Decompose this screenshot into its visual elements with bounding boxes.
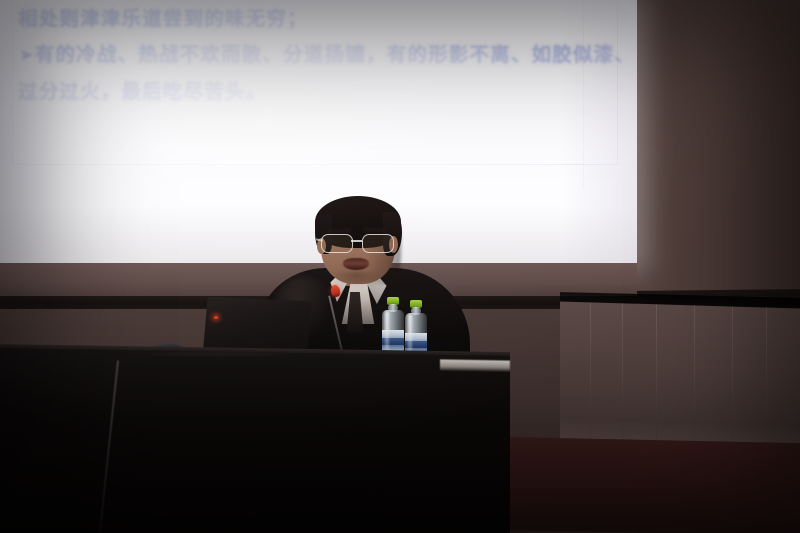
glasses-icon [318,234,400,252]
stage-floor [505,437,800,533]
desk-paper-right [440,359,510,371]
slide-line-3: 过分过火，最后吃尽苦头。 [18,75,618,111]
slide-line-1: 相处则津津乐道尝到的味无穷； [18,2,618,38]
speaker-mouth [343,258,369,270]
slide-line-2: ➤有的冷战、热战不欢而散、分道扬镳，有的形影不离、如胶似漆、 [18,38,618,75]
lecture-hall-photo: 相处则津津乐道尝到的味无穷； ➤有的冷战、热战不欢而散、分道扬镳，有的形影不离、… [0,0,800,533]
glasses-lens-left [321,234,353,253]
drape-fold [732,307,733,457]
drape-fold [590,302,591,452]
drape-fold [694,305,695,455]
glasses-lens-right [362,234,394,253]
drape-fold [656,304,657,454]
back-wall-right-shade [637,0,800,300]
desk-cable-coil [150,352,280,356]
drape-fold [622,303,623,453]
slide-bullet-icon: ➤ [20,38,34,74]
podium-table [0,348,510,533]
slide-line-1-text: 相处则津津乐道尝到的味无穷； [18,9,308,30]
table-skirt [560,301,800,458]
drape-fold [766,308,767,458]
slide-line-3-text: 过分过火，最后吃尽苦头。 [18,82,266,103]
speaker-chin-shadow [333,272,381,286]
laptop-led-icon [214,316,218,319]
glasses-bridge [351,240,362,242]
slide-line-2-text: 有的冷战、热战不欢而散、分道扬镳，有的形影不离、如胶似漆、 [35,45,635,66]
slide-text-block: 相处则津津乐道尝到的味无穷； ➤有的冷战、热战不欢而散、分道扬镳，有的形影不离、… [18,2,618,111]
